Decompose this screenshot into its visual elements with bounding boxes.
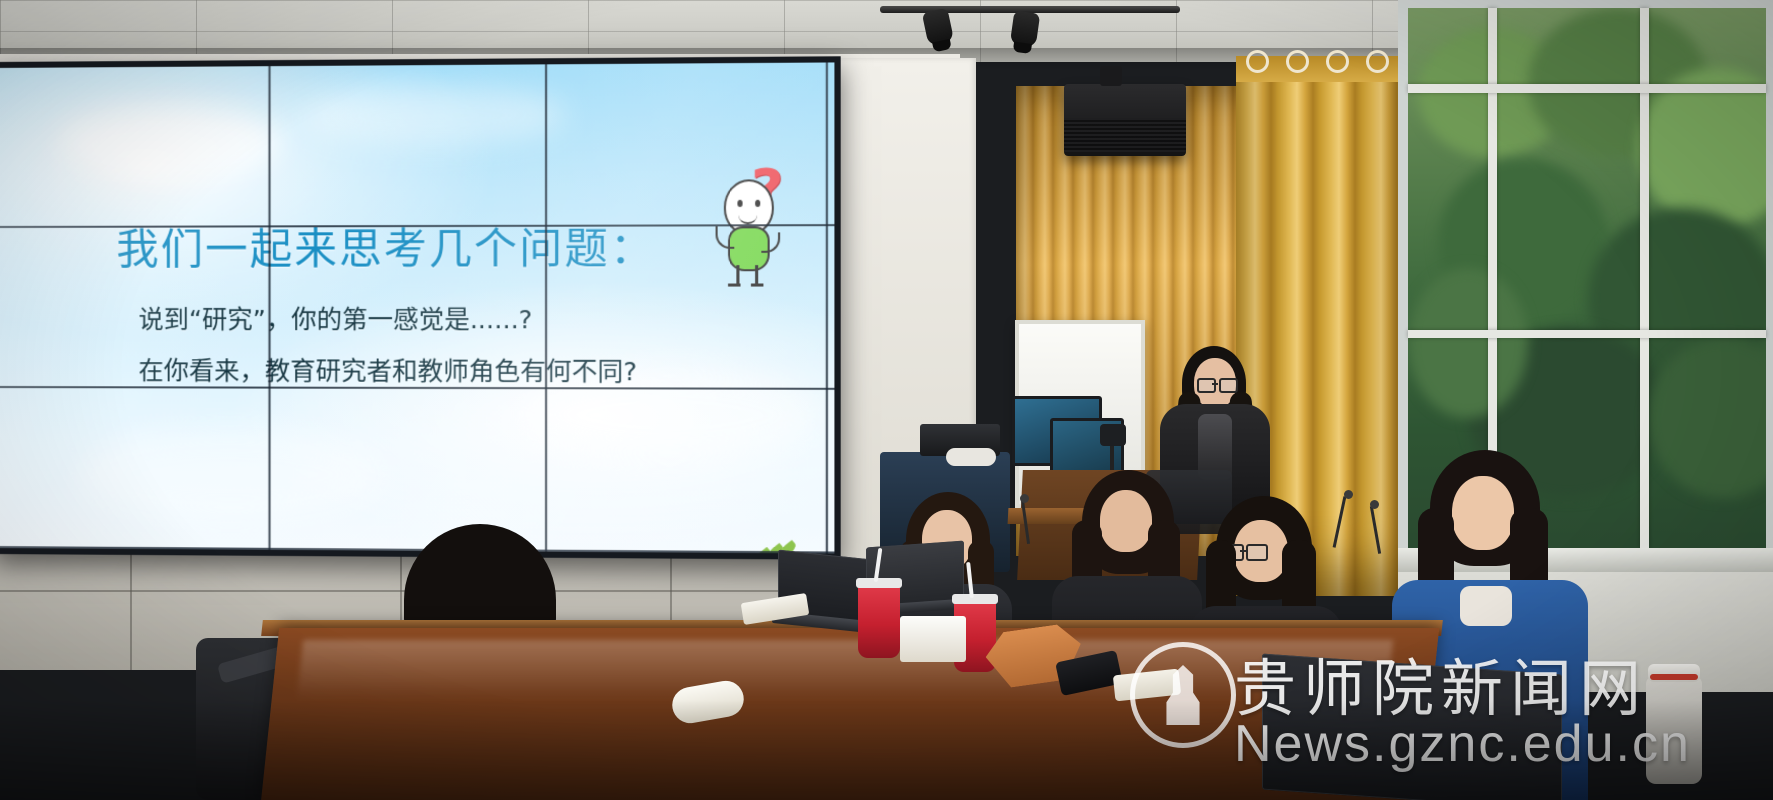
thermos-band bbox=[1650, 674, 1698, 680]
video-wall-tile-seams bbox=[0, 62, 834, 553]
window-mullion-horizontal bbox=[1408, 330, 1766, 338]
drink-cup-1[interactable] bbox=[858, 584, 900, 658]
camera-head bbox=[1100, 424, 1126, 446]
tissue-box[interactable] bbox=[900, 616, 966, 662]
wall-seam bbox=[130, 540, 132, 670]
cup-lid bbox=[952, 594, 998, 604]
window-mullion-horizontal bbox=[1408, 84, 1766, 93]
thermos-bottle[interactable] bbox=[1646, 676, 1702, 784]
cable-coil bbox=[946, 448, 996, 466]
curtain-ring bbox=[1246, 50, 1269, 73]
led-video-wall[interactable]: 我们一起来思考几个问题： 说到“研究”，你的第一感觉是......? 在你看来，… bbox=[0, 56, 841, 559]
curtain-ring bbox=[1286, 50, 1309, 73]
table-reflection bbox=[297, 640, 1393, 700]
slide-canvas: 我们一起来思考几个问题： 说到“研究”，你的第一感觉是......? 在你看来，… bbox=[0, 62, 834, 553]
speaker-grille bbox=[1064, 118, 1186, 152]
cup-lid bbox=[856, 578, 902, 588]
curtain-ring bbox=[1366, 50, 1389, 73]
collar bbox=[1460, 586, 1512, 626]
photo-scene: 我们一起来思考几个问题： 说到“研究”，你的第一感觉是......? 在你看来，… bbox=[0, 0, 1773, 800]
curtain-ring bbox=[1326, 50, 1349, 73]
